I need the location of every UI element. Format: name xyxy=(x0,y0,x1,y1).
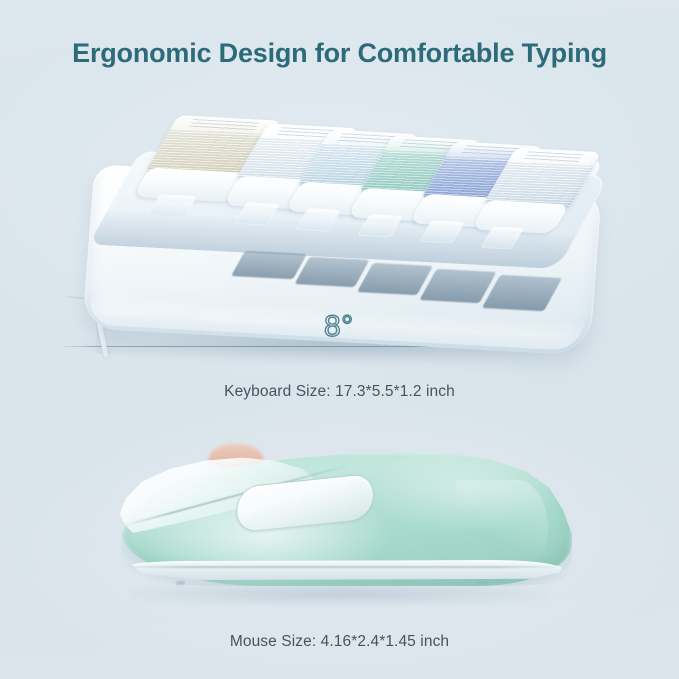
mouse-base-seam xyxy=(132,566,556,568)
keycap-gap-shadow xyxy=(231,251,307,280)
product-feature-slide: Ergonomic Design for Comfortable Typing xyxy=(0,0,679,679)
keycap-column-mint[interactable] xyxy=(392,135,482,140)
mouse-base-rim xyxy=(128,560,564,580)
page-title: Ergonomic Design for Comfortable Typing xyxy=(0,38,679,69)
keycap-column-white[interactable] xyxy=(268,123,360,128)
tilt-angle-label: 8° xyxy=(324,312,354,342)
mouse-size-caption: Mouse Size: 4.16*2.4*1.45 inch xyxy=(0,633,679,651)
keycap-column-pale-blue[interactable] xyxy=(330,129,420,134)
keyboard-size-caption: Keyboard Size: 17.3*5.5*1.2 inch xyxy=(0,383,679,401)
keycap-gap-shadow xyxy=(294,257,369,287)
keycap-gap-shadow xyxy=(419,269,496,303)
mouse-glide-foot xyxy=(176,581,185,585)
mouse-glide-foot xyxy=(478,581,487,585)
keycap-gap-shadow xyxy=(482,275,562,311)
keycap-gap-shadow xyxy=(357,263,433,295)
keycap-column-cream[interactable] xyxy=(178,115,282,121)
mouse-product-image xyxy=(96,436,596,621)
keycap-column-periwinkle[interactable] xyxy=(454,141,544,146)
keycap-column-cool-white[interactable] xyxy=(516,148,602,153)
keyboard-product-image: 8° xyxy=(62,100,622,370)
